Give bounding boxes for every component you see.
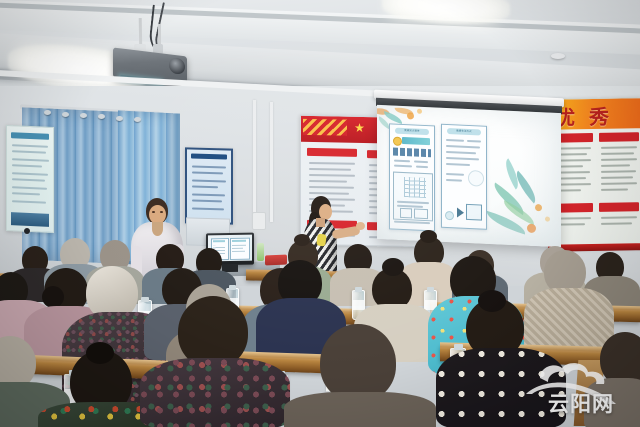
poster-left-photo	[11, 212, 49, 227]
curtain-grommet	[80, 113, 87, 118]
curtain-grommet	[134, 117, 141, 122]
smoke-detector	[551, 53, 565, 59]
webcam-icon	[24, 228, 30, 234]
poster-left-service-board	[6, 125, 54, 233]
attendee-hair-bun	[294, 234, 310, 246]
wall-conduit-pipe	[253, 100, 256, 228]
presenter-held-object	[316, 233, 327, 246]
party-banner-decoration	[303, 119, 347, 136]
watermark-text: 云阳网	[548, 388, 614, 418]
cpc-emblem-icon: ★	[353, 122, 366, 135]
attendee-hair-bun	[478, 290, 506, 312]
honor-board: 优 秀	[548, 97, 640, 249]
attendee-body	[284, 392, 436, 427]
curtain-grommet	[62, 112, 69, 117]
projection-screen[interactable]: 健康知识宣传 健康生活方式	[377, 105, 561, 247]
party-board-header	[307, 148, 357, 157]
curtain-grommet	[44, 110, 51, 115]
wall-socket	[252, 212, 266, 230]
presenter-neck	[316, 218, 325, 227]
attendee-head	[320, 324, 396, 402]
poster-left-title	[11, 132, 49, 140]
photo-scene: ★ 支 优 秀	[0, 0, 640, 427]
poster-mid-regulations	[185, 147, 233, 224]
wall-conduit-pipe-2	[270, 102, 273, 222]
poster-mid-title	[191, 153, 227, 159]
honor-board-header	[599, 202, 639, 212]
curtain-grommet	[98, 114, 105, 119]
attendee-hair-bun	[86, 342, 114, 364]
presenter-hand	[356, 222, 365, 230]
attendee-hair-bun	[420, 230, 437, 243]
speaker-neck	[152, 222, 163, 236]
honor-board-header	[599, 132, 639, 142]
attendee-body-floral	[140, 358, 290, 427]
honor-banner-char: 秀	[589, 101, 609, 130]
desk-bottle	[257, 243, 264, 261]
screen-vignette	[377, 105, 561, 247]
attendee-hair-bun	[382, 258, 404, 276]
desk-red-object	[265, 255, 287, 266]
curtain-grommet	[116, 116, 123, 121]
attendee-hair-bun	[42, 286, 64, 308]
